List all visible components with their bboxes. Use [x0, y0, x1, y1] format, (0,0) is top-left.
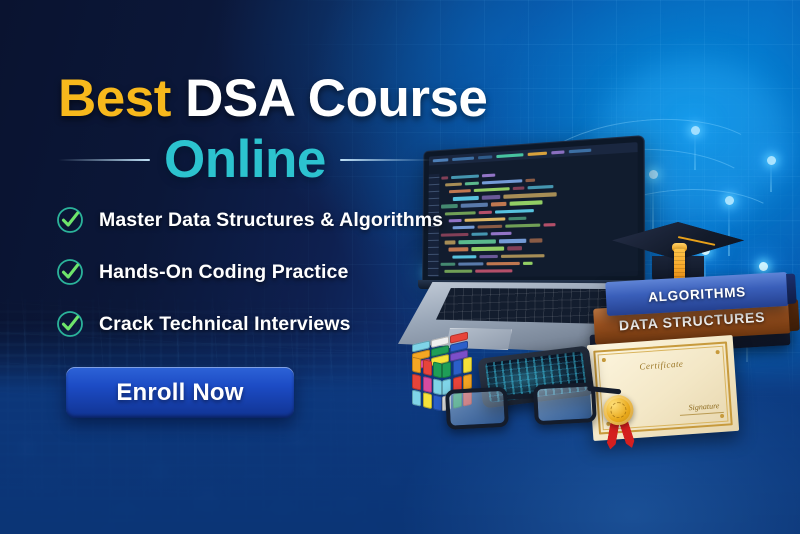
- code-editor-tabbar: [429, 142, 638, 165]
- headline-rule-right: [340, 159, 432, 161]
- headline-line-2: Online: [58, 133, 458, 186]
- cube-sticker: [463, 357, 472, 374]
- promo-banner: DATA STRUCTURES ALGORITHMS Certificate S…: [0, 0, 800, 534]
- enroll-now-button[interactable]: Enroll Now: [66, 367, 294, 418]
- code-line: [441, 260, 635, 267]
- feature-bullet-label: Hands-On Coding Practice: [99, 261, 348, 284]
- code-line: [441, 252, 635, 260]
- code-line: [441, 244, 635, 253]
- headline-word-best: Best: [58, 69, 171, 128]
- feature-bullet-label: Crack Technical Interviews: [99, 313, 351, 336]
- feature-bullet: Master Data Structures & Algorithms: [56, 206, 443, 234]
- feature-bullet-list: Master Data Structures & AlgorithmsHands…: [56, 206, 443, 338]
- banner-content: Best DSA Course Online Master Data Struc…: [0, 0, 460, 534]
- feature-bullet: Crack Technical Interviews: [56, 310, 443, 338]
- headline-rule-left: [58, 159, 150, 161]
- headline-word-online: Online: [164, 133, 326, 186]
- headline-line-1: Best DSA Course: [58, 72, 458, 126]
- headline-word-course: Course: [308, 69, 488, 128]
- headline: Best DSA Course Online: [58, 72, 458, 186]
- eyeglasses: [445, 378, 598, 438]
- code-line: [440, 268, 634, 274]
- check-circle-icon: [56, 310, 84, 338]
- code-editor-lines: [440, 164, 634, 275]
- feature-bullet: Hands-On Coding Practice: [56, 258, 443, 286]
- check-circle-icon: [56, 258, 84, 286]
- eyeglasses-bridge: [507, 393, 535, 399]
- headline-word-dsa: DSA: [185, 69, 293, 128]
- check-circle-icon: [56, 206, 84, 234]
- feature-bullet-label: Master Data Structures & Algorithms: [99, 209, 443, 232]
